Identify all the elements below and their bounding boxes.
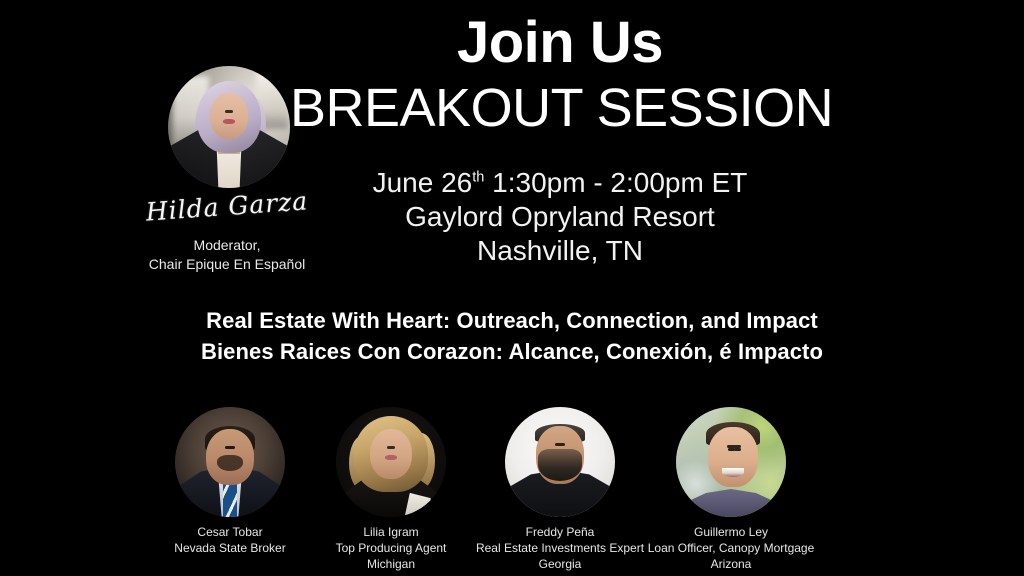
- speaker-1-tie: [223, 480, 237, 517]
- speaker-caption-2: Lilia Igram Top Producing Agent Michigan: [306, 525, 476, 572]
- speaker-2-face: [370, 429, 412, 479]
- speaker-caption-4: Guillermo Ley Loan Officer, Canopy Mortg…: [646, 525, 816, 572]
- speakers-row: Cesar Tobar Nevada State Broker Lilia Ig: [0, 402, 1024, 576]
- moderator-role: Moderator, Chair Epique En Español: [122, 236, 332, 274]
- event-date-time: June 26th 1:30pm - 2:00pm ET: [300, 166, 820, 200]
- breakout-session-title: BREAKOUT SESSION: [290, 72, 830, 137]
- event-time-range: 1:30pm - 2:00pm ET: [484, 167, 747, 198]
- speaker-photo-1: [175, 407, 285, 517]
- moderator-role-line-2: Chair Epique En Español: [122, 255, 332, 274]
- speaker-card-1: Cesar Tobar Nevada State Broker: [145, 402, 315, 557]
- speaker-4-title: Loan Officer, Canopy Mortgage: [646, 541, 816, 557]
- speaker-4-name: Guillermo Ley: [646, 525, 816, 541]
- speaker-3-location: Georgia: [475, 557, 645, 573]
- moderator-eye-right: [227, 110, 233, 113]
- speaker-2-title: Top Producing Agent: [306, 541, 476, 557]
- session-title-spanish: Bienes Raices Con Corazon: Alcance, Cone…: [72, 336, 952, 367]
- speaker-4-smile: [722, 468, 744, 477]
- speaker-3-name: Freddy Peña: [475, 525, 645, 541]
- session-titles: Real Estate With Heart: Outreach, Connec…: [72, 305, 952, 367]
- event-slide: Join Us BREAKOUT SESSION June 26th 1:30p…: [0, 0, 1024, 576]
- event-venue: Gaylord Opryland Resort: [300, 200, 820, 234]
- speaker-card-2: Lilia Igram Top Producing Agent Michigan: [306, 402, 476, 572]
- speaker-1-eye-right: [228, 446, 235, 449]
- moderator-photo: [168, 66, 290, 188]
- speaker-3-eye-right: [558, 443, 565, 446]
- event-city: Nashville, TN: [300, 234, 820, 268]
- speaker-caption-1: Cesar Tobar Nevada State Broker: [145, 525, 315, 557]
- speaker-photo-3: [505, 407, 615, 517]
- speaker-3-beard: [538, 449, 582, 481]
- speaker-4-face: [708, 427, 758, 487]
- join-us-eyebrow: Join Us: [290, 8, 830, 72]
- speaker-1-title: Nevada State Broker: [145, 541, 315, 557]
- speaker-2-eye-right: [389, 446, 395, 449]
- event-details: June 26th 1:30pm - 2:00pm ET Gaylord Opr…: [300, 166, 820, 268]
- moderator-lips: [223, 119, 235, 124]
- speaker-2-name: Lilia Igram: [306, 525, 476, 541]
- speaker-4-location: Arizona: [646, 557, 816, 573]
- moderator-face: [210, 93, 248, 139]
- speaker-2-lips: [385, 455, 397, 460]
- speaker-3-title: Real Estate Investments Expert: [475, 541, 645, 557]
- speaker-photo-2: [336, 407, 446, 517]
- speaker-photo-4: [676, 407, 786, 517]
- event-date: June 26: [373, 167, 473, 198]
- moderator-signature: Hilda Garza: [126, 187, 327, 226]
- headline-block: Join Us BREAKOUT SESSION: [290, 8, 830, 137]
- speaker-card-3: Freddy Peña Real Estate Investments Expe…: [475, 402, 645, 572]
- speaker-4-eye-right: [734, 448, 741, 451]
- speaker-1-name: Cesar Tobar: [145, 525, 315, 541]
- date-ordinal-suffix: th: [472, 170, 484, 186]
- moderator-role-line-1: Moderator,: [122, 236, 332, 255]
- speaker-2-location: Michigan: [306, 557, 476, 573]
- session-title-english: Real Estate With Heart: Outreach, Connec…: [72, 305, 952, 336]
- speaker-caption-3: Freddy Peña Real Estate Investments Expe…: [475, 525, 645, 572]
- speaker-card-4: Guillermo Ley Loan Officer, Canopy Mortg…: [646, 402, 816, 572]
